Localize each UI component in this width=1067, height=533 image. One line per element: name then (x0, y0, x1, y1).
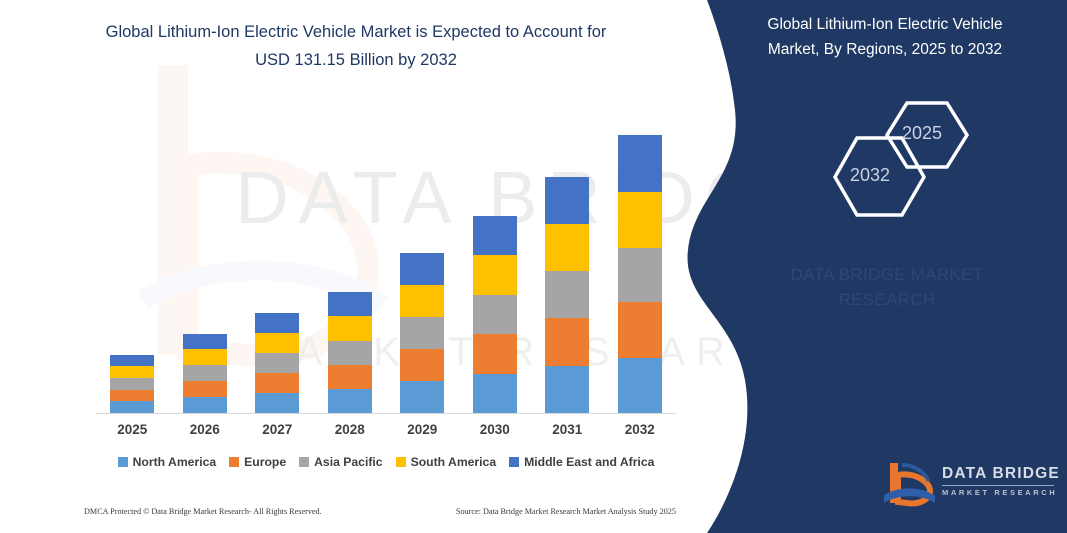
bar-segment[interactable] (255, 373, 299, 393)
bar-segment[interactable] (400, 253, 444, 285)
logo-mark-icon (882, 459, 938, 509)
bar-segment[interactable] (328, 292, 372, 316)
footer-source: Source: Data Bridge Market Research Mark… (456, 507, 676, 516)
bar-segment[interactable] (328, 316, 372, 340)
bar-segment[interactable] (545, 366, 589, 413)
bar-stack-2027[interactable] (255, 313, 299, 413)
x-axis-label-2030: 2030 (459, 422, 532, 437)
bar-segment[interactable] (473, 295, 517, 334)
bar-segment[interactable] (400, 349, 444, 381)
x-axis-label-2029: 2029 (386, 422, 459, 437)
footer-copyright: DMCA Protected © Data Bridge Market Rese… (84, 507, 322, 516)
bar-segment[interactable] (545, 177, 589, 224)
chart-legend: North AmericaEuropeAsia PacificSouth Ame… (96, 455, 676, 469)
logo-text-secondary: MARKET RESEARCH (942, 488, 1057, 497)
right-panel-content: Global Lithium-Ion Electric Vehicle Mark… (712, 0, 1067, 533)
legend-item[interactable]: Europe (229, 455, 286, 469)
bar-stack-2025[interactable] (110, 355, 154, 413)
right-panel-title-line1: Global Lithium-Ion Electric Vehicle (767, 16, 1002, 33)
bar-column[interactable] (531, 120, 604, 413)
brand-name-line2: RESEARCH (839, 290, 936, 309)
bar-segment[interactable] (400, 381, 444, 413)
legend-swatch-icon (118, 457, 128, 467)
bar-column[interactable] (241, 120, 314, 413)
bar-segment[interactable] (110, 378, 154, 390)
legend-swatch-icon (509, 457, 519, 467)
legend-item[interactable]: South America (396, 455, 497, 469)
legend-item[interactable]: North America (118, 455, 217, 469)
x-axis-label-2027: 2027 (241, 422, 314, 437)
x-axis-label-2026: 2026 (169, 422, 242, 437)
bar-segment[interactable] (110, 366, 154, 378)
logo-divider (942, 485, 1054, 486)
bar-stack-2026[interactable] (183, 334, 227, 413)
legend-label: Asia Pacific (314, 455, 382, 469)
footer: DMCA Protected © Data Bridge Market Rese… (84, 507, 676, 516)
bar-segment[interactable] (618, 248, 662, 302)
bar-column[interactable] (604, 120, 677, 413)
page-title-line1: Global Lithium-Ion Electric Vehicle Mark… (106, 23, 607, 41)
x-axis-label-2031: 2031 (531, 422, 604, 437)
bar-stack-2031[interactable] (545, 177, 589, 413)
bar-segment[interactable] (110, 355, 154, 366)
bar-segment[interactable] (183, 397, 227, 413)
bar-segment[interactable] (618, 135, 662, 192)
bar-group (96, 120, 676, 413)
bar-segment[interactable] (400, 285, 444, 317)
bar-segment[interactable] (110, 401, 154, 413)
brand-name-line1: DATA BRIDGE MARKET (791, 265, 984, 284)
bar-column[interactable] (459, 120, 532, 413)
hexagon-2032-label: 2032 (850, 165, 890, 186)
bar-segment[interactable] (473, 334, 517, 373)
bar-segment[interactable] (545, 271, 589, 318)
legend-label: Europe (244, 455, 286, 469)
bar-stack-2032[interactable] (618, 135, 662, 413)
bar-segment[interactable] (328, 341, 372, 365)
infographic-root: DATA BRIDGE MARKET RESEARCH Global Lithi… (0, 0, 1067, 533)
brand-name: DATA BRIDGE MARKET RESEARCH (727, 262, 1047, 312)
bar-segment[interactable] (183, 334, 227, 350)
x-axis-line (96, 413, 676, 414)
bar-segment[interactable] (255, 313, 299, 333)
bar-segment[interactable] (400, 317, 444, 349)
right-panel-title-line2: Market, By Regions, 2025 to 2032 (768, 41, 1002, 58)
bar-column[interactable] (386, 120, 459, 413)
bar-segment[interactable] (328, 389, 372, 413)
page-title: Global Lithium-Ion Electric Vehicle Mark… (46, 18, 666, 74)
x-axis-label-2025: 2025 (96, 422, 169, 437)
bar-chart-plot (96, 120, 676, 414)
legend-label: Middle East and Africa (524, 455, 654, 469)
bar-segment[interactable] (183, 365, 227, 381)
legend-label: North America (133, 455, 217, 469)
bar-segment[interactable] (183, 349, 227, 365)
bar-segment[interactable] (328, 365, 372, 389)
legend-swatch-icon (229, 457, 239, 467)
x-axis-label-2032: 2032 (604, 422, 677, 437)
company-logo: DATA BRIDGE MARKET RESEARCH (882, 457, 1062, 513)
bar-segment[interactable] (473, 216, 517, 255)
bar-segment[interactable] (618, 192, 662, 248)
bar-segment[interactable] (473, 255, 517, 294)
bar-segment[interactable] (183, 381, 227, 397)
bar-segment[interactable] (255, 353, 299, 373)
bar-segment[interactable] (110, 390, 154, 402)
x-axis-label-2028: 2028 (314, 422, 387, 437)
right-panel-title: Global Lithium-Ion Electric Vehicle Mark… (720, 12, 1050, 62)
legend-item[interactable]: Middle East and Africa (509, 455, 654, 469)
hexagon-2025-label: 2025 (902, 123, 942, 144)
hexagon-group: 2025 2032 (812, 95, 1012, 220)
legend-swatch-icon (299, 457, 309, 467)
bar-column[interactable] (96, 120, 169, 413)
bar-stack-2028[interactable] (328, 292, 372, 413)
bar-segment[interactable] (473, 374, 517, 413)
bar-segment[interactable] (545, 318, 589, 365)
x-axis-labels: 20252026202720282029203020312032 (96, 422, 676, 437)
legend-label: South America (411, 455, 497, 469)
bar-segment[interactable] (618, 302, 662, 358)
legend-swatch-icon (396, 457, 406, 467)
bar-stack-2030[interactable] (473, 216, 517, 413)
bar-segment[interactable] (255, 333, 299, 353)
bar-segment[interactable] (618, 358, 662, 413)
bar-segment[interactable] (255, 393, 299, 413)
bar-column[interactable] (314, 120, 387, 413)
chart-pane: Global Lithium-Ion Electric Vehicle Mark… (0, 0, 712, 533)
page-title-line2: USD 131.15 Billion by 2032 (255, 51, 457, 69)
bar-column[interactable] (169, 120, 242, 413)
legend-item[interactable]: Asia Pacific (299, 455, 382, 469)
bar-segment[interactable] (545, 224, 589, 271)
bar-stack-2029[interactable] (400, 253, 444, 413)
logo-text-primary: DATA BRIDGE (942, 465, 1060, 483)
